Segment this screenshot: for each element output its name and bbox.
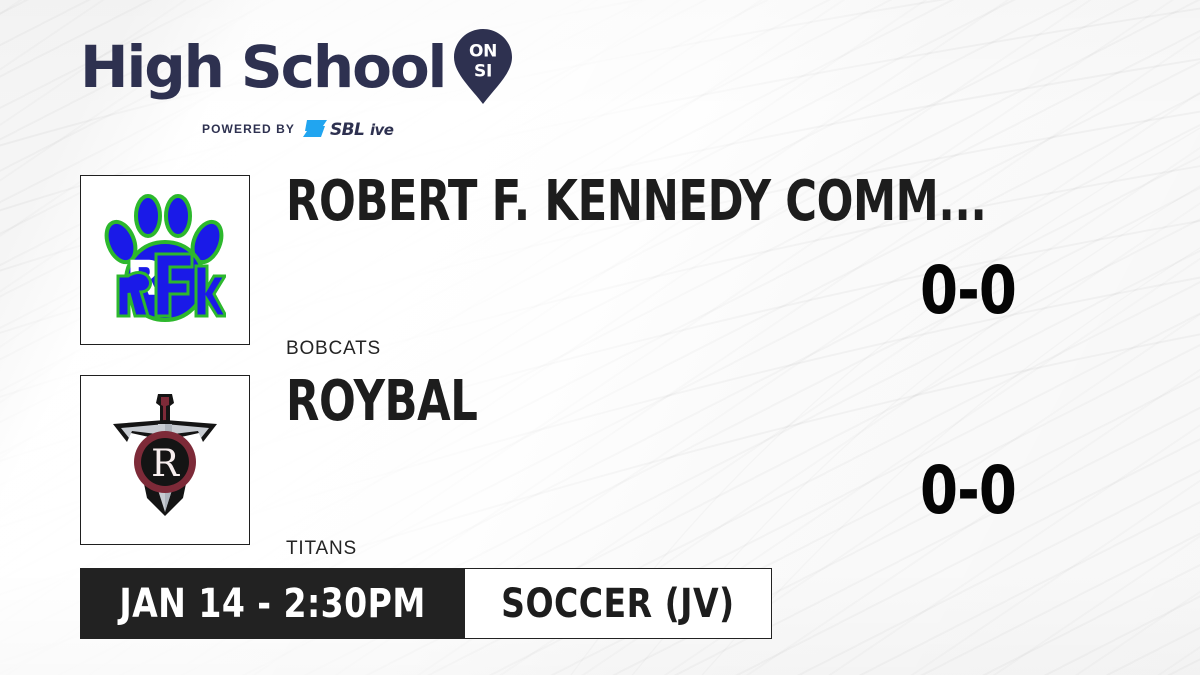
game-info-bar: JAN 14 - 2:30PM SOCCER (JV) xyxy=(80,568,772,639)
home-team-mascot: TITANS xyxy=(286,538,357,560)
brand-title: High School xyxy=(80,38,445,96)
svg-text:SBL: SBL xyxy=(330,120,364,139)
scorecard-graphic: High School ON SI POWERED BY SBL ive xyxy=(0,0,1200,675)
svg-text:SI: SI xyxy=(474,62,492,82)
home-team-name: ROYBAL xyxy=(286,374,477,430)
game-datetime-block: JAN 14 - 2:30PM xyxy=(80,568,465,639)
home-team-record: 0-0 xyxy=(920,458,1016,524)
svg-text:ON: ON xyxy=(469,42,497,62)
away-team-name: ROBERT F. KENNEDY COMM... xyxy=(286,174,986,230)
game-datetime-text: JAN 14 - 2:30PM xyxy=(119,584,425,624)
svg-text:ive: ive xyxy=(370,121,394,139)
away-team-mascot: BOBCATS xyxy=(286,338,381,360)
powered-by-label: POWERED BY xyxy=(202,122,295,136)
brand-header: High School ON SI POWERED BY SBL ive xyxy=(80,33,720,133)
on-si-pin-icon: ON SI xyxy=(454,29,512,109)
game-sport-text: SOCCER (JV) xyxy=(501,584,734,624)
rfk-bobcats-paw-icon xyxy=(104,192,226,329)
away-team-logo-box xyxy=(80,175,250,345)
sblive-logo-icon: SBL ive xyxy=(303,118,407,139)
roybal-titans-sword-icon: R xyxy=(103,390,227,531)
away-team-record: 0-0 xyxy=(920,258,1016,324)
brand-logo-row: High School ON SI xyxy=(80,33,720,109)
svg-text:R: R xyxy=(151,442,180,485)
game-sport-block: SOCCER (JV) xyxy=(465,568,772,639)
home-team-logo-box: R xyxy=(80,375,250,545)
powered-by-row: POWERED BY SBL ive xyxy=(202,118,720,139)
